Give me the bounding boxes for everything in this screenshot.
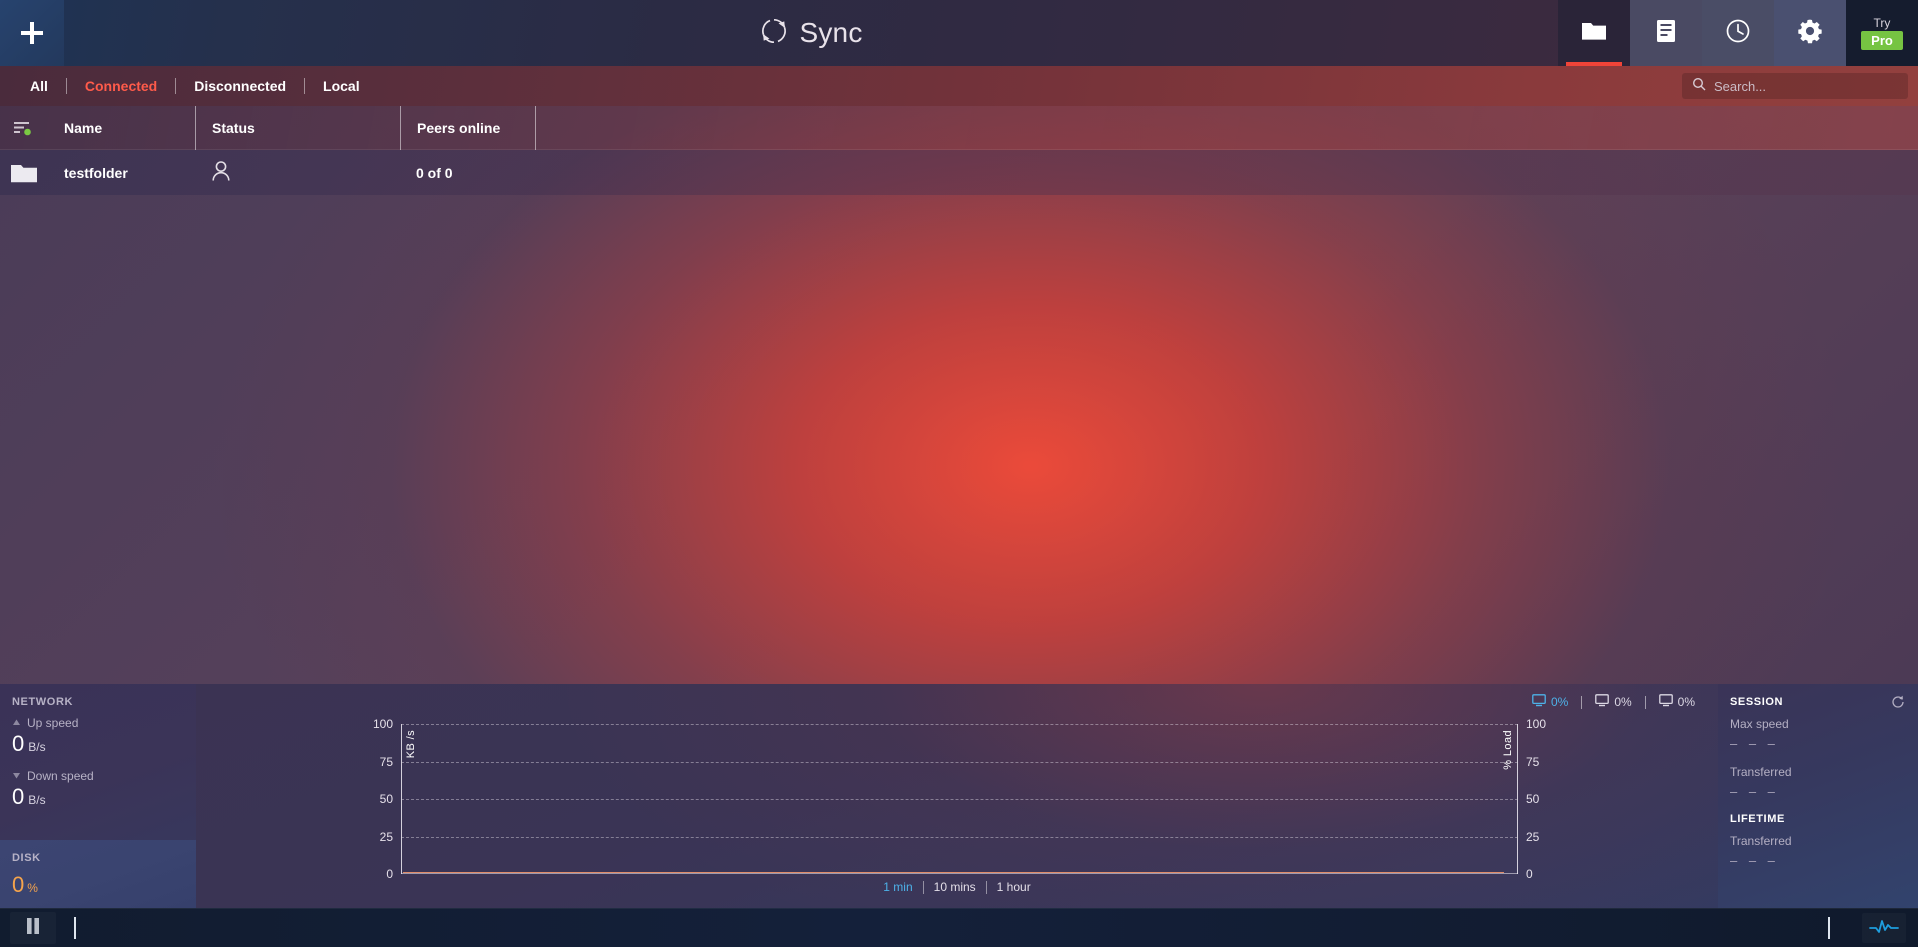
divider xyxy=(1828,917,1830,939)
app-brand: Sync xyxy=(64,0,1558,66)
y-tick-right-25: 25 xyxy=(1526,830,1566,844)
pro-badge: Pro xyxy=(1861,31,1903,50)
gridline-75 xyxy=(401,762,1518,763)
filter-tab-connected[interactable]: Connected xyxy=(67,66,175,106)
cpu-meter-0-value: 0% xyxy=(1551,695,1568,709)
network-title: NETWORK xyxy=(12,696,184,708)
gridline-100 xyxy=(401,724,1518,725)
chart-baseline xyxy=(401,873,1518,874)
search-input[interactable] xyxy=(1714,79,1898,94)
up-speed-value-row: 0B/s xyxy=(12,731,184,760)
session-title: SESSION xyxy=(1730,696,1906,708)
main-content: Name Status Peers online testfolder xyxy=(0,106,1918,684)
search-container xyxy=(1682,73,1908,99)
nav-button-history[interactable] xyxy=(1702,0,1774,66)
monitor-icon xyxy=(1595,694,1609,710)
filter-bar: All Connected Disconnected Local xyxy=(0,66,1918,106)
chart-series-line xyxy=(403,872,1504,874)
session-transferred-label: Transferred xyxy=(1730,765,1906,779)
nav-button-devices[interactable] xyxy=(1630,0,1702,66)
gridline-25 xyxy=(401,837,1518,838)
down-speed-unit: B/s xyxy=(28,793,45,807)
row-peers-online: 0 of 0 xyxy=(400,150,535,195)
try-pro-button[interactable]: Try Pro xyxy=(1846,0,1918,66)
network-block: NETWORK Up speed 0B/s Down speed xyxy=(0,684,196,813)
y-tick-right-0: 0 xyxy=(1526,867,1566,881)
up-speed-value: 0 xyxy=(12,731,24,756)
disk-block: DISK 0% xyxy=(0,840,196,908)
disk-value: 0 xyxy=(12,872,24,897)
search-box[interactable] xyxy=(1682,73,1908,99)
down-speed-value-row: 0B/s xyxy=(12,784,184,813)
lifetime-transferred-label: Transferred xyxy=(1730,834,1906,848)
cpu-meter-0: 0% xyxy=(1519,694,1581,710)
lifetime-title: LIFETIME xyxy=(1730,813,1906,825)
monitor-icon xyxy=(1532,694,1546,710)
sync-app-window: Sync xyxy=(0,0,1918,947)
plus-icon xyxy=(19,20,45,46)
cpu-meter-1: 0% xyxy=(1582,694,1644,710)
clock-icon xyxy=(1725,18,1751,49)
sync-circular-arrows-icon xyxy=(759,16,789,51)
folder-icon xyxy=(1581,20,1607,47)
try-label: Try xyxy=(1874,17,1891,29)
y-tick-left-0: 0 xyxy=(353,867,393,881)
top-bar: Sync xyxy=(0,0,1918,66)
reset-circular-arrow-icon[interactable] xyxy=(1890,694,1906,715)
triangle-down-icon xyxy=(12,769,21,783)
filter-tab-disconnected[interactable]: Disconnected xyxy=(176,66,304,106)
range-1-hour[interactable]: 1 hour xyxy=(987,880,1041,894)
y-tick-left-100: 100 xyxy=(353,717,393,731)
gridline-50 xyxy=(401,799,1518,800)
gear-icon xyxy=(1797,18,1823,49)
y-tick-right-75: 75 xyxy=(1526,755,1566,769)
speed-chart-panel: 0% 0% 0% xyxy=(196,684,1718,908)
sort-filter-icon[interactable] xyxy=(0,106,48,150)
cpu-meters: 0% 0% 0% xyxy=(1519,694,1708,710)
down-speed-value: 0 xyxy=(12,784,24,809)
lifetime-transferred-value: – – – xyxy=(1730,853,1906,868)
column-header-status[interactable]: Status xyxy=(195,106,400,150)
bottom-status-bar xyxy=(0,908,1918,947)
network-panel: NETWORK Up speed 0B/s Down speed xyxy=(0,684,196,908)
filter-tab-local[interactable]: Local xyxy=(305,66,378,106)
disk-value-row: 0% xyxy=(12,872,184,901)
divider xyxy=(74,917,76,939)
app-title: Sync xyxy=(799,17,862,49)
row-name: testfolder xyxy=(48,150,195,195)
filter-tabs: All Connected Disconnected Local xyxy=(0,66,378,106)
time-range-selector: 1 min 10 mins 1 hour xyxy=(196,880,1718,894)
y-tick-left-25: 25 xyxy=(353,830,393,844)
nav-button-preferences[interactable] xyxy=(1774,0,1846,66)
column-header-peers-online[interactable]: Peers online xyxy=(400,106,535,150)
column-header-filler xyxy=(535,106,1918,150)
session-transferred-value: – – – xyxy=(1730,784,1906,799)
range-1-min[interactable]: 1 min xyxy=(873,880,922,894)
down-speed-label: Down speed xyxy=(27,769,94,783)
range-10-mins[interactable]: 10 mins xyxy=(924,880,986,894)
folder-icon xyxy=(0,150,48,195)
table-body: testfolder 0 of 0 xyxy=(0,150,1918,195)
chart-y2-axis-label: % Load xyxy=(1502,730,1514,770)
down-speed-label-row: Down speed xyxy=(12,769,184,783)
column-header-name[interactable]: Name xyxy=(48,106,195,150)
bottom-bar-right xyxy=(1828,913,1918,943)
up-speed-label-row: Up speed xyxy=(12,716,184,730)
cpu-meter-2-value: 0% xyxy=(1678,695,1695,709)
add-folder-button[interactable] xyxy=(0,0,64,66)
search-icon xyxy=(1692,77,1706,96)
y-tick-right-50: 50 xyxy=(1526,792,1566,806)
disk-unit: % xyxy=(27,881,38,895)
session-max-speed-label: Max speed xyxy=(1730,717,1906,731)
speed-chart-plot: 100 75 50 25 0 100 75 50 25 0 KB /s % Lo… xyxy=(401,724,1518,874)
row-status xyxy=(195,150,400,195)
top-nav: Try Pro xyxy=(1558,0,1918,66)
filter-tab-all[interactable]: All xyxy=(12,66,66,106)
activity-graph-button[interactable] xyxy=(1862,913,1906,943)
pause-button[interactable] xyxy=(10,912,56,944)
activity-waveform-icon xyxy=(1869,917,1899,940)
table-header: Name Status Peers online xyxy=(0,106,1918,150)
disk-title: DISK xyxy=(12,852,184,864)
cpu-meter-1-value: 0% xyxy=(1614,695,1631,709)
document-lines-icon xyxy=(1655,19,1677,48)
session-panel: SESSION Max speed – – – Transferred – – … xyxy=(1718,684,1918,908)
pause-icon xyxy=(25,917,41,940)
up-speed-label: Up speed xyxy=(27,716,78,730)
y-tick-left-50: 50 xyxy=(353,792,393,806)
cpu-meter-2: 0% xyxy=(1646,694,1708,710)
session-max-speed-value: – – – xyxy=(1730,736,1906,751)
y-tick-right-100: 100 xyxy=(1526,717,1566,731)
stats-panel: NETWORK Up speed 0B/s Down speed xyxy=(0,684,1918,908)
up-speed-unit: B/s xyxy=(28,740,45,754)
chart-y-axis-label: KB /s xyxy=(405,730,417,758)
person-icon xyxy=(211,160,231,185)
nav-button-folders[interactable] xyxy=(1558,0,1630,66)
table-row[interactable]: testfolder 0 of 0 xyxy=(0,150,1918,195)
monitor-icon xyxy=(1659,694,1673,710)
y-tick-left-75: 75 xyxy=(353,755,393,769)
triangle-up-icon xyxy=(12,716,21,730)
